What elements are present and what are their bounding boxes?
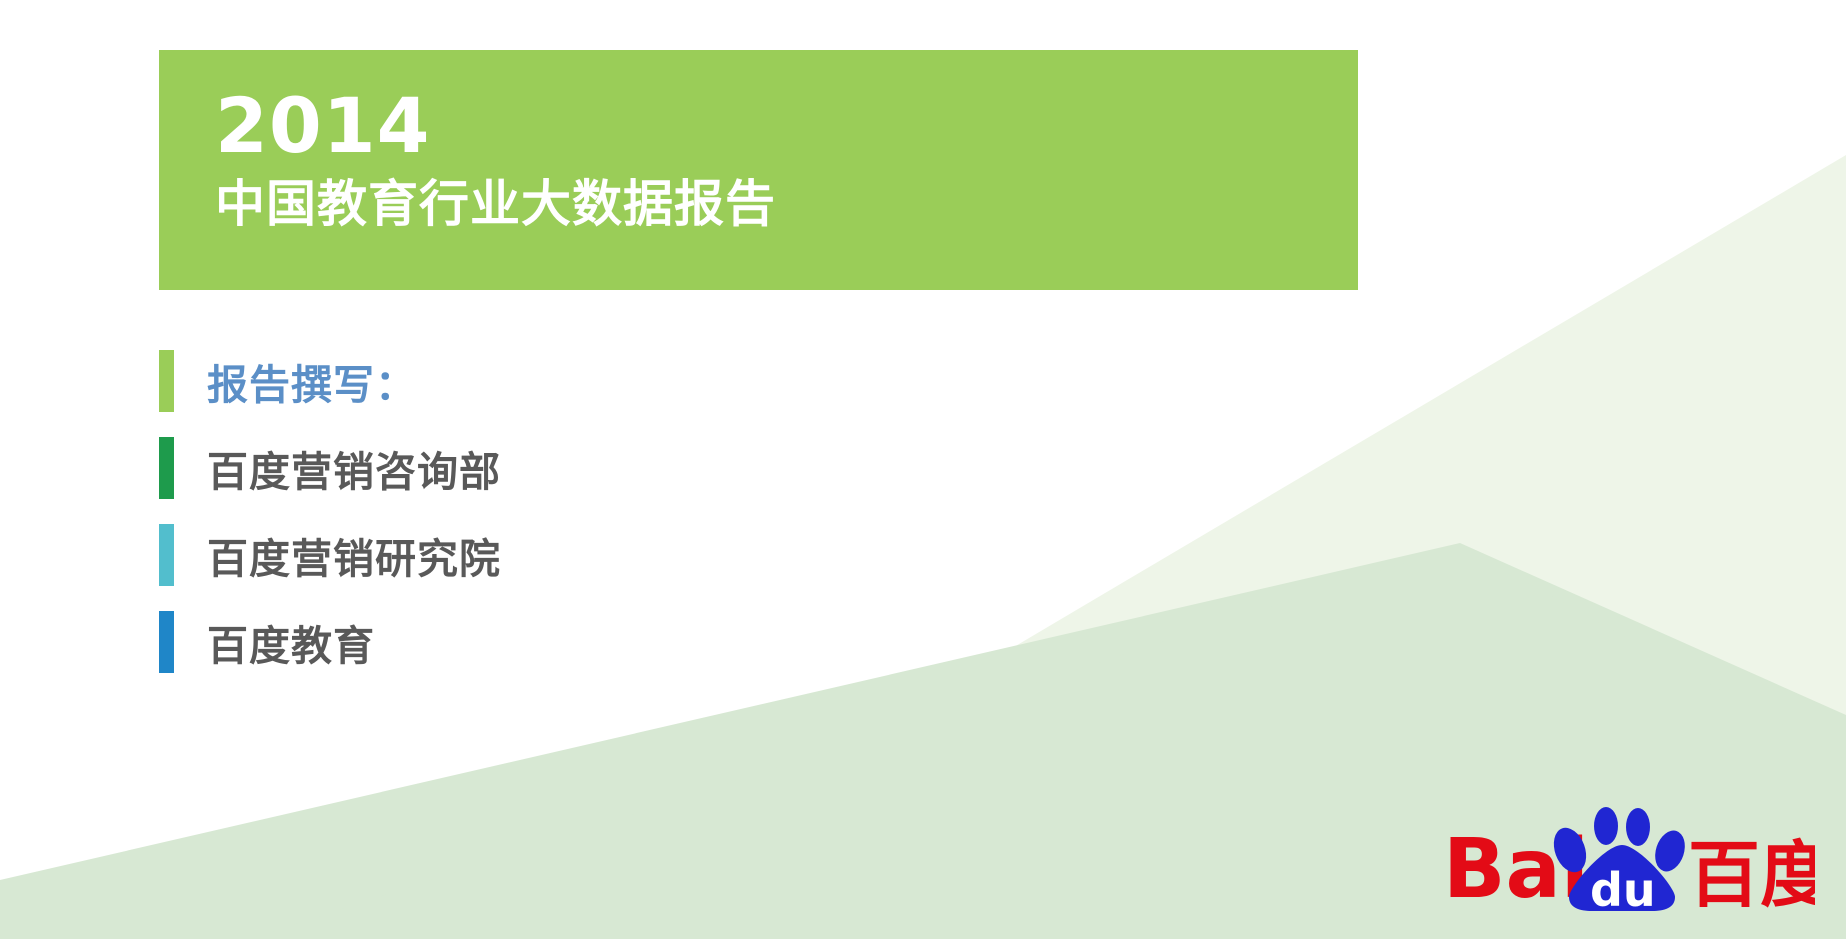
credit-row-consulting-dept: 百度营销咨询部: [159, 424, 859, 511]
banner-year: 2014: [215, 90, 1358, 163]
slide-canvas: 2014 中国教育行业大数据报告 报告撰写： 百度营销咨询部 百度营销研究院 百…: [0, 0, 1846, 939]
title-banner: 2014 中国教育行业大数据报告: [159, 50, 1358, 290]
baidu-education: 百度教育: [207, 612, 375, 672]
baidu-paw-du-text: du: [1590, 863, 1656, 915]
baidu-logo: Bai du 百度: [1443, 805, 1815, 915]
credit-row-research-institute: 百度营销研究院: [159, 511, 859, 598]
accent-bar-icon: [159, 437, 174, 499]
baidu-marketing-research-institute: 百度营销研究院: [207, 525, 501, 585]
credits-list: 报告撰写： 百度营销咨询部 百度营销研究院 百度教育: [159, 337, 859, 685]
baidu-chinese-wordmark-text: 百度: [1688, 833, 1815, 915]
baidu-marketing-consulting-dept: 百度营销咨询部: [207, 438, 501, 498]
accent-bar-icon: [159, 350, 174, 412]
accent-bar-icon: [159, 524, 174, 586]
accent-bar-icon: [159, 611, 174, 673]
credit-row-report-author: 报告撰写：: [159, 337, 859, 424]
report-author-heading: 报告撰写：: [207, 351, 417, 411]
credit-row-baidu-education: 百度教育: [159, 598, 859, 685]
banner-subtitle: 中国教育行业大数据报告: [215, 173, 1358, 236]
